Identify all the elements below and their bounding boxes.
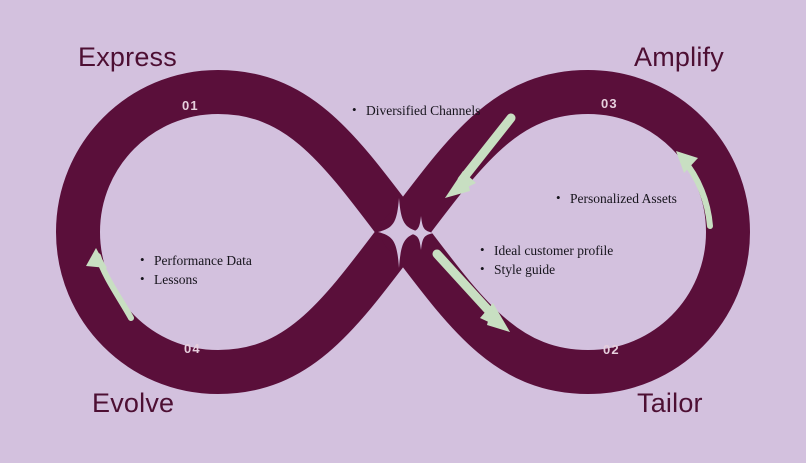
stage-label-express: Express: [78, 42, 177, 73]
infographic-canvas: Express Amplify Evolve Tailor 01 03 04 0…: [0, 0, 806, 463]
annotation-assets: Personalized Assets: [556, 190, 677, 209]
stage-number-02: 02: [603, 342, 620, 357]
list-item: Style guide: [480, 261, 613, 280]
stage-label-amplify: Amplify: [634, 42, 724, 73]
list-item: Ideal customer profile: [480, 242, 613, 261]
stage-label-evolve: Evolve: [92, 388, 174, 419]
list-item: Diversified Channels: [352, 102, 480, 121]
list-item: Performance Data: [140, 252, 252, 271]
annotation-profile: Ideal customer profile Style guide: [480, 242, 613, 279]
annotation-performance: Performance Data Lessons: [140, 252, 252, 289]
stage-label-tailor: Tailor: [637, 388, 703, 419]
stage-number-01: 01: [182, 98, 199, 113]
list-item: Personalized Assets: [556, 190, 677, 209]
stage-number-03: 03: [601, 96, 618, 111]
infinity-band: [78, 92, 728, 372]
list-item: Lessons: [140, 271, 252, 290]
annotation-channels: Diversified Channels: [352, 102, 480, 121]
stage-number-04: 04: [184, 341, 201, 356]
